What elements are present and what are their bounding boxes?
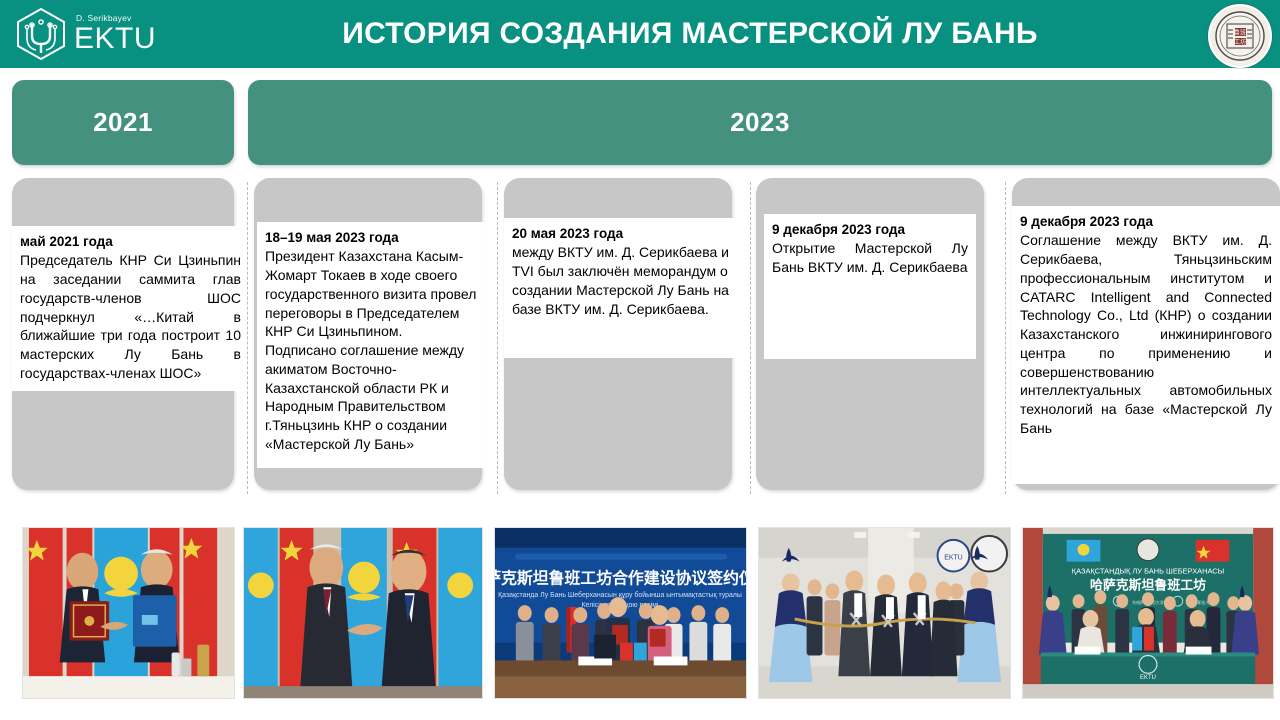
- photo-signing-ceremony-ektu[interactable]: ҚАЗАҚСТАНДЫҚ ЛУ БАНЬ ШЕБЕРХАНАСЫ 哈萨克斯坦鲁班…: [1022, 527, 1274, 699]
- photo-strip: 哈萨克斯坦鲁班工坊合作建设协议签约仪式 Қазақстанда Лу Бань …: [0, 527, 1280, 707]
- timeline-card-4-text: Открытие Мастерской Лу Бань ВКТУ им. Д. …: [772, 239, 968, 277]
- logo-wordmark: EKTU: [74, 24, 156, 54]
- year-bar-2021[interactable]: 2021: [12, 80, 234, 165]
- year-bar-2023[interactable]: 2023: [248, 80, 1272, 165]
- card-divider-1: [247, 182, 248, 494]
- svg-text:工坊: 工坊: [1234, 38, 1246, 46]
- photo-agreement-signing-blue-backdrop[interactable]: 哈萨克斯坦鲁班工坊合作建设协议签约仪式 Қазақстанда Лу Бань …: [494, 527, 747, 699]
- timeline-card-4-content: 9 декабря 2023 года Открытие Мастерской …: [764, 214, 976, 359]
- year-bar-2023-label: 2023: [730, 107, 790, 138]
- timeline-card-3-content: 20 мая 2023 года между ВКТУ им. Д. Серик…: [504, 218, 740, 358]
- timeline-card-2-date: 18–19 мая 2023 года: [265, 229, 477, 246]
- timeline-cards: май 2021 года Председатель КНР Си Цзиньп…: [0, 178, 1280, 498]
- year-bar-row: 2021 2023: [0, 80, 1280, 165]
- svg-text:哈萨克斯坦鲁班工坊: 哈萨克斯坦鲁班工坊: [1090, 577, 1206, 593]
- year-bar-2021-label: 2021: [93, 107, 153, 138]
- hexagon-circuit-icon: [14, 6, 68, 62]
- timeline-card-2-text: Президент Казахстана Касым-Жомарт Токаев…: [265, 247, 477, 453]
- svg-text:EKTU: EKTU: [944, 555, 963, 562]
- timeline-card-1-date: май 2021 года: [20, 233, 241, 250]
- ektu-logo: D. Serikbayev EKTU: [14, 6, 156, 62]
- photo-xi-tokayev-signing-documents[interactable]: [22, 527, 235, 699]
- card-divider-2: [497, 182, 498, 494]
- timeline-card-3-date: 20 мая 2023 года: [512, 225, 732, 242]
- timeline-card-5-content: 9 декабря 2023 года Соглашение между ВКТ…: [1012, 206, 1280, 484]
- svg-text:哈萨克斯坦鲁班工坊合作建设协议签约仪式: 哈萨克斯坦鲁班工坊合作建设协议签约仪式: [495, 568, 746, 587]
- card-divider-4: [1005, 182, 1006, 494]
- timeline-card-2-content: 18–19 мая 2023 года Президент Казахстана…: [257, 222, 485, 468]
- timeline-card-1-content: май 2021 года Председатель КНР Си Цзиньп…: [12, 226, 249, 391]
- svg-text:鲁班: 鲁班: [1234, 29, 1246, 37]
- timeline-card-5-date: 9 декабря 2023 года: [1020, 213, 1272, 230]
- timeline-card-4-date: 9 декабря 2023 года: [772, 221, 968, 238]
- luban-workshop-seal-icon: 鲁班 工坊: [1208, 4, 1272, 68]
- photo-tokayev-xi-handshake[interactable]: [243, 527, 483, 699]
- photo-ribbon-cutting-ceremony[interactable]: EKTU: [758, 527, 1011, 699]
- svg-text:EKTU: EKTU: [1140, 675, 1156, 681]
- svg-text:ҚАЗАҚСТАНДЫҚ ЛУ БАНЬ ШЕБЕРХАНА: ҚАЗАҚСТАНДЫҚ ЛУ БАНЬ ШЕБЕРХАНАСЫ: [1072, 566, 1224, 575]
- card-divider-3: [750, 182, 751, 494]
- timeline-card-3-text: между ВКТУ им. Д. Серикбаева и TVI был з…: [512, 243, 732, 318]
- timeline-card-1-text: Председатель КНР Си Цзиньпин на заседани…: [20, 251, 241, 382]
- logo-subtitle: D. Serikbayev: [76, 14, 156, 23]
- page-header: D. Serikbayev EKTU ИСТОРИЯ СОЗДАНИЯ МАСТ…: [0, 0, 1280, 68]
- timeline-card-5-text: Соглашение между ВКТУ им. Д. Серикбаева,…: [1020, 231, 1272, 437]
- page-title: ИСТОРИЯ СОЗДАНИЯ МАСТЕРСКОЙ ЛУ БАНЬ: [200, 0, 1180, 68]
